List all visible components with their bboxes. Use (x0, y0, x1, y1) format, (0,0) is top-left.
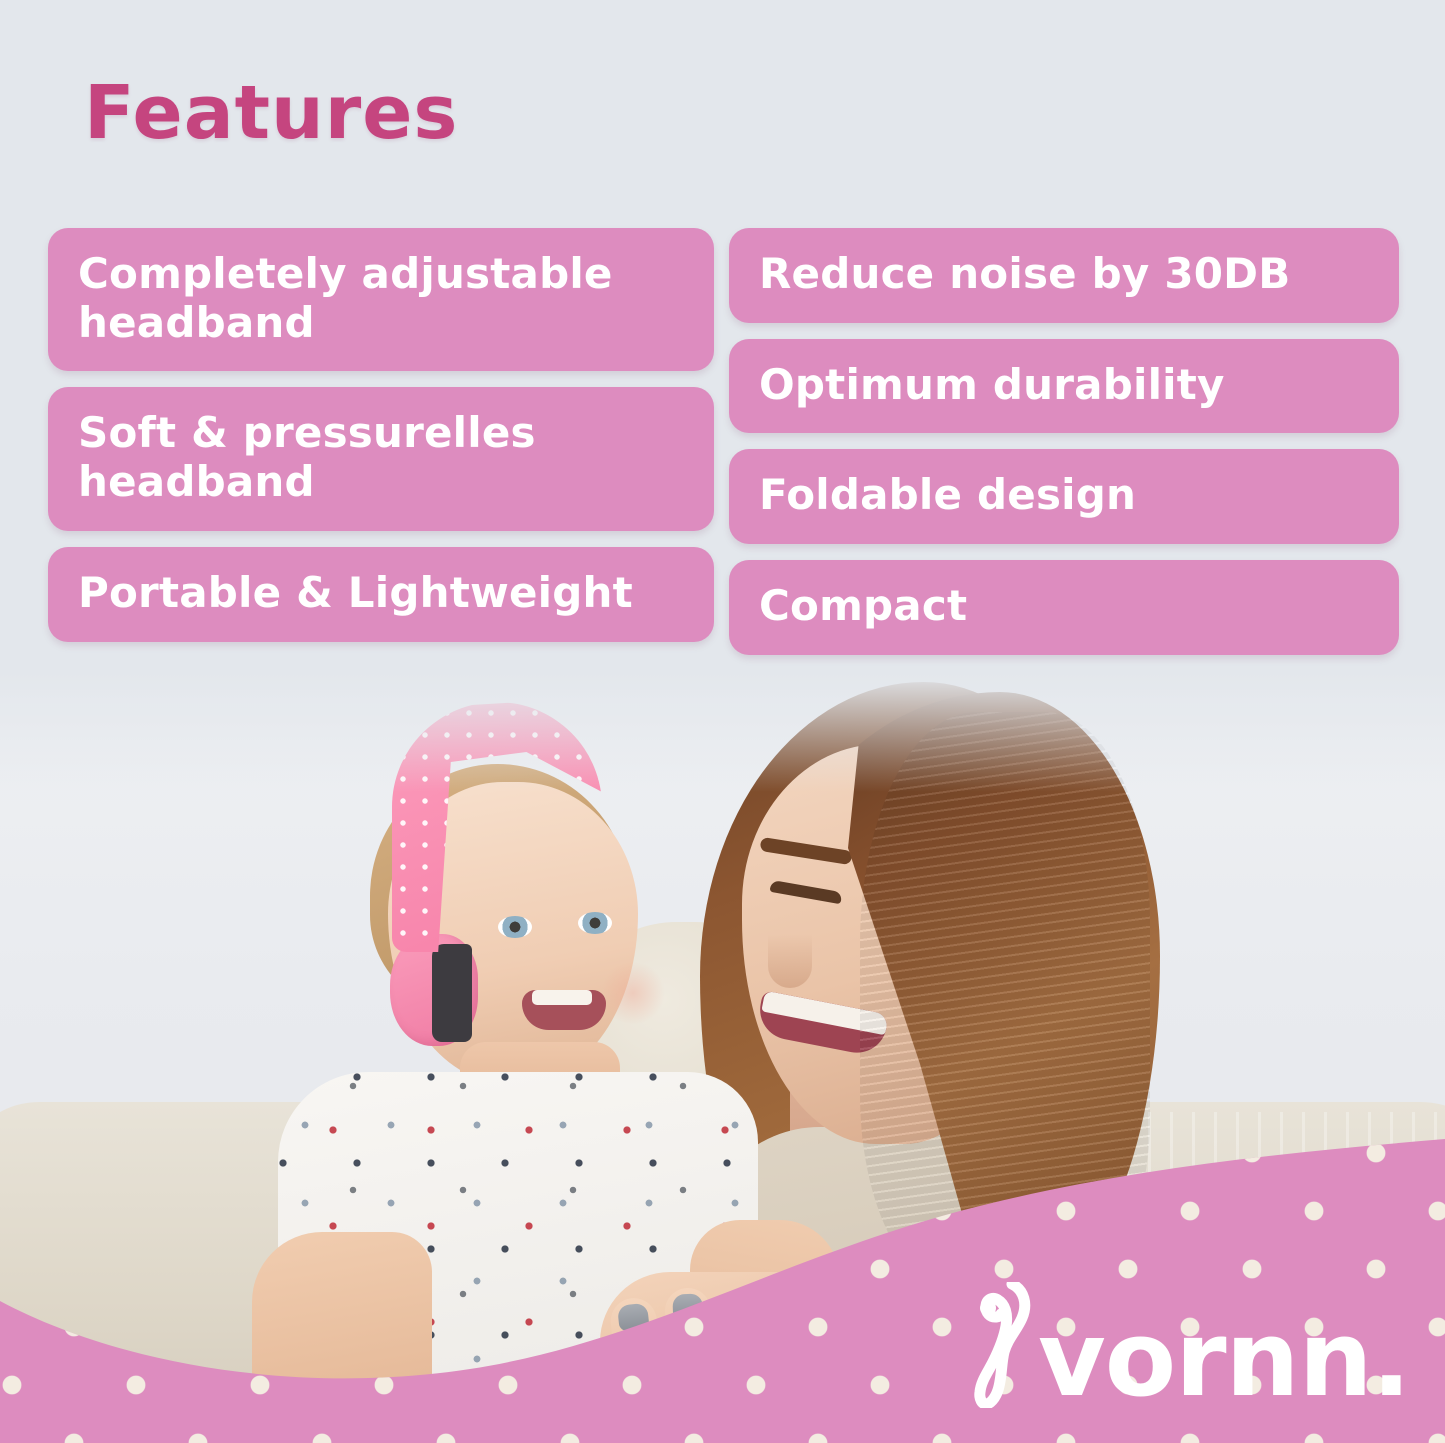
feature-pill: Portable & Lightweight (48, 547, 714, 642)
woman-nose (768, 934, 812, 988)
woman-hands (600, 1272, 860, 1443)
brand-logo: vornn. (968, 1282, 1410, 1408)
ear-defender-cup-inner (432, 944, 472, 1042)
feature-pill: Optimum durability (729, 339, 1399, 434)
feature-pill: Foldable design (729, 449, 1399, 544)
feature-pill: Reduce noise by 30DB (729, 228, 1399, 323)
baby-arm-left (252, 1232, 432, 1442)
finger (715, 1291, 767, 1401)
feature-pill: Soft & pressurelles headband (48, 387, 714, 530)
woman-hair-strands (860, 712, 1150, 1292)
baby-eye-right (578, 912, 612, 934)
fingernail (617, 1303, 650, 1332)
brand-name: vornn. (1038, 1312, 1410, 1408)
baby-eye-left (498, 916, 532, 938)
fingernail (672, 1294, 703, 1321)
photo-top-fade (0, 672, 1445, 792)
finger (608, 1296, 665, 1408)
feature-pill: Completely adjustable headband (48, 228, 714, 371)
vornn-logo-mark-icon (968, 1282, 1044, 1408)
feature-list-right: Reduce noise by 30DB Optimum durability … (729, 228, 1399, 655)
infographic-page: Features Completely adjustable headband … (0, 0, 1445, 1443)
baby-cheek (600, 962, 666, 1024)
baby-teeth (532, 990, 592, 1005)
page-title: Features (84, 70, 458, 156)
feature-pill: Compact (729, 560, 1399, 655)
fingernail (781, 1310, 814, 1340)
baby-mouth (522, 990, 606, 1030)
fingernail (727, 1297, 758, 1325)
finger (763, 1303, 824, 1416)
feature-list-left: Completely adjustable headband Soft & pr… (48, 228, 714, 642)
finger (664, 1287, 714, 1397)
